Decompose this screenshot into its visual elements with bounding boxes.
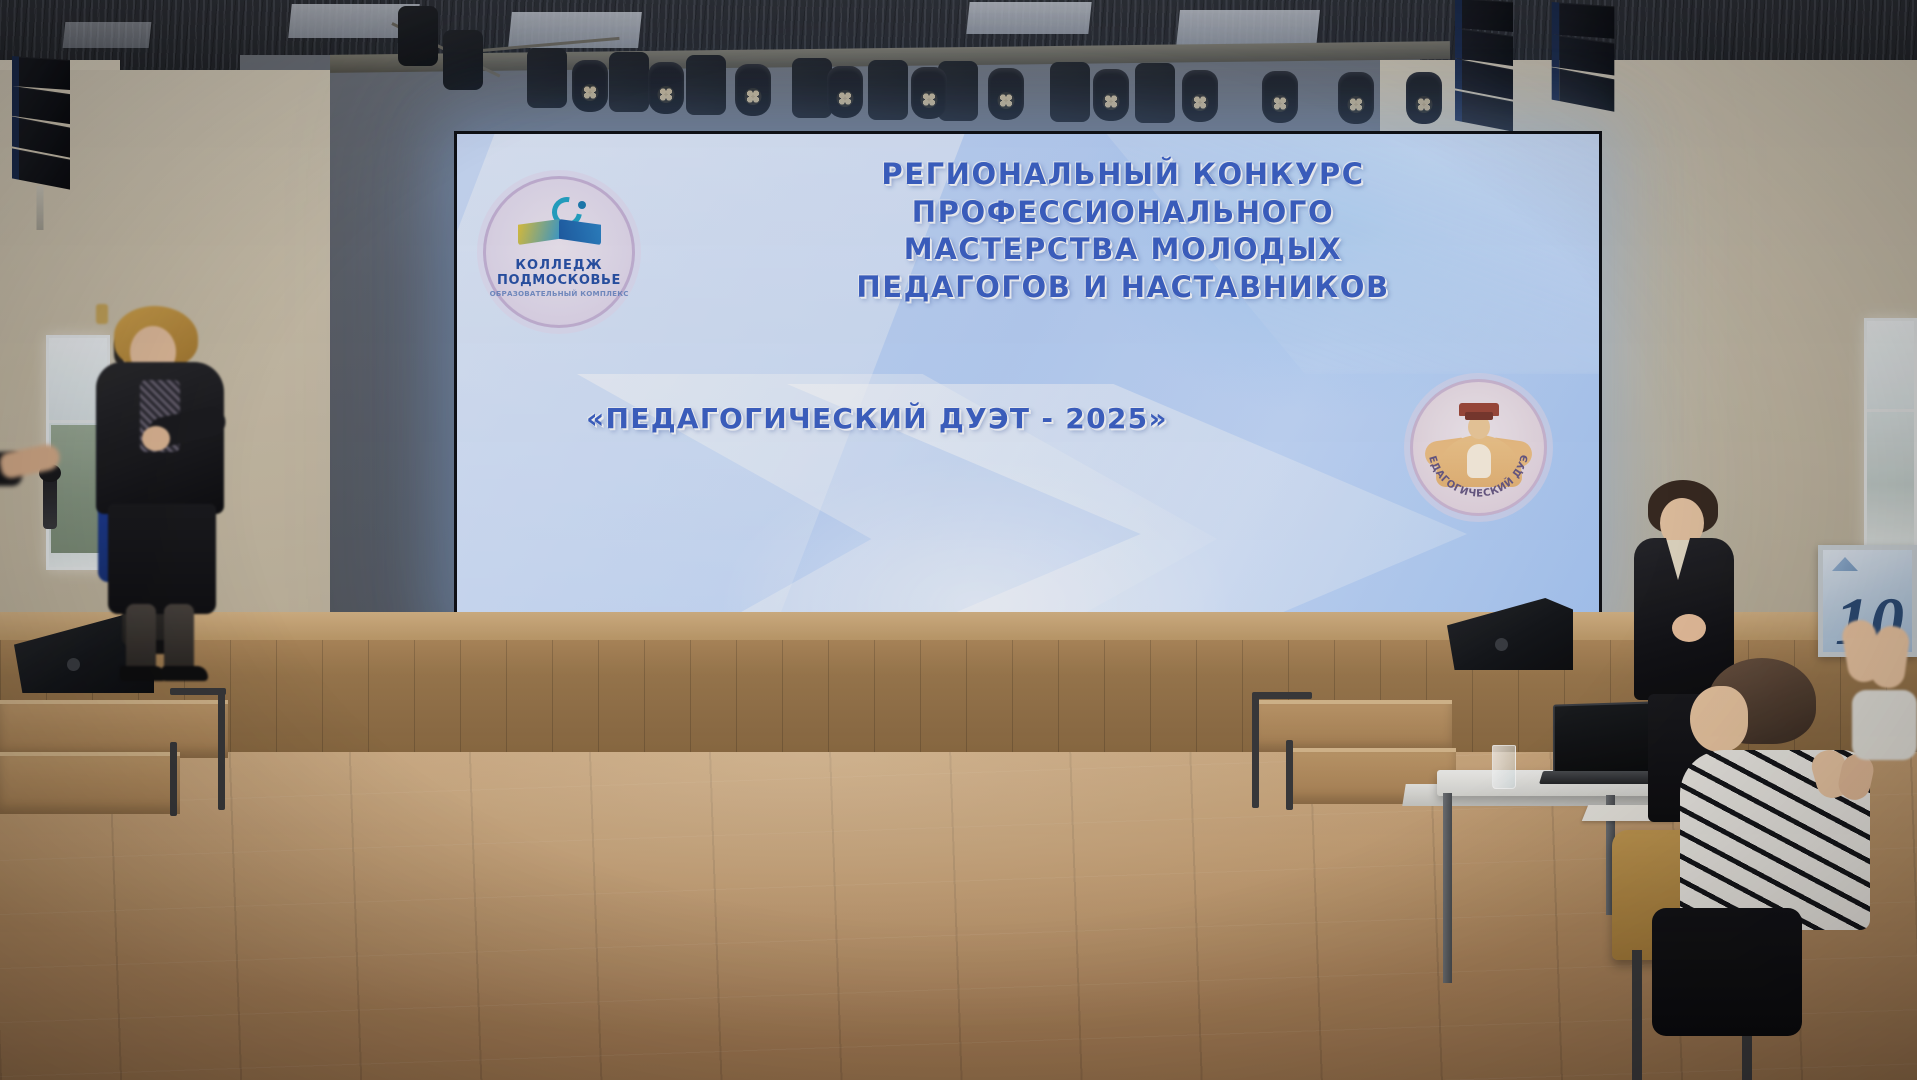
college-logo: КОЛЛЕДЖ ПОДМОСКОВЬЕ ОБРАЗОВАТЕЛЬНЫЙ КОМП… [483,176,635,328]
book-right-icon [559,219,601,245]
window-far-right [1864,318,1917,558]
step-handrail [218,690,225,810]
speaker-box [1455,0,1513,32]
par-lens [1272,95,1289,112]
step-handrail [1286,740,1293,810]
par-lens [1416,96,1433,113]
speaker-pole [37,186,44,230]
moving-head-light [398,6,438,66]
svg-text:ПЕДАГОГИЧЕСКИЙ ДУЭТ: ПЕДАГОГИЧЕСКИЙ ДУЭТ [1413,382,1531,500]
moving-head-light [1050,62,1090,122]
stage-step [1252,700,1452,752]
moving-head-light [527,48,567,108]
moving-head-light [868,60,908,120]
par-lens [658,86,675,103]
emblem-ring-text: ПЕДАГОГИЧЕСКИЙ ДУЭТ [1413,382,1544,513]
led-video-wall: КОЛЛЕДЖ ПОДМОСКОВЬЕ ОБРАЗОВАТЕЛЬНЫЙ КОМП… [454,131,1602,637]
college-logo-mark [516,199,602,251]
hand [142,426,170,451]
led-screen-surface: КОЛЛЕДЖ ПОДМОСКОВЬЕ ОБРАЗОВАТЕЛЬНЫЙ КОМП… [457,134,1599,634]
person-woman-black-suit [96,304,108,324]
moving-head-light [443,30,483,90]
clasped-hands [1672,614,1706,642]
par-lens [1348,96,1365,113]
moving-head-light [609,52,649,112]
lap-trousers [1652,908,1802,1036]
par-can-light [911,67,947,119]
photo-scene: КОЛЛЕДЖ ПОДМОСКОВЬЕ ОБРАЗОВАТЕЛЬНЫЙ КОМП… [0,0,1917,1080]
step-handrail [1252,692,1312,699]
moving-head-light [686,55,726,115]
college-logo-line3: ОБРАЗОВАТЕЛЬНЫЙ КОМПЛЕКС [489,290,628,298]
par-can-light [1338,72,1374,124]
screen-title-line-3: МАСТЕРСТВА МОЛОДЫХ [693,231,1553,269]
chair-leg [1632,950,1642,1080]
screen-bottom-glow [717,454,1237,634]
speaker-box [12,56,70,90]
par-can-light [648,62,684,114]
water-glass [1492,745,1516,789]
book-left-icon [518,219,560,245]
screen-subtitle: «ПЕДАГОГИЧЕСКИЙ ДУЭТ - 2025» [467,402,1287,435]
shoe [162,666,208,681]
stage-step [0,752,180,814]
par-can-light [988,68,1024,120]
line-array-far-right [1552,4,1615,108]
par-lens [1103,93,1120,110]
line-array-left [12,58,70,186]
dot-icon [578,201,586,209]
college-logo-line1: КОЛЛЕДЖ [515,258,602,273]
par-lens [582,84,599,101]
par-can-light [572,60,608,112]
ceiling-panel [966,2,1091,34]
laptop-screen[interactable] [1553,701,1662,777]
college-logo-line2: ПОДМОСКОВЬЕ [497,273,621,288]
par-can-light [1093,69,1129,121]
skirt [108,504,216,614]
line-array-right [1455,0,1513,128]
wristwatch [96,304,108,324]
screen-title-block: РЕГИОНАЛЬНЫЙ КОНКУРС ПРОФЕССИОНАЛЬНОГО М… [693,156,1553,307]
screen-title-line-4: ПЕДАГОГОВ И НАСТАВНИКОВ [693,269,1553,307]
leg [164,604,194,674]
duet-emblem: ПЕДАГОГИЧЕСКИЙ ДУЭТ [1410,379,1547,516]
window-mullion [1867,409,1914,412]
shoe [120,666,166,681]
par-lens [1192,94,1209,111]
step-handrail [170,742,177,816]
step-handrail [170,688,226,695]
par-lens [745,88,762,105]
offscreen-right-hands [1845,620,1917,740]
step-handrail [1252,694,1259,808]
head [1690,686,1748,752]
par-can-light [735,64,771,116]
screen-title-line-1: РЕГИОНАЛЬНЫЙ КОНКУРС [693,156,1553,194]
par-lens [837,90,854,107]
screen-title-line-2: ПРОФЕССИОНАЛЬНОГО [693,194,1553,232]
ceiling-panel [63,22,152,48]
speaker-box [1552,2,1615,39]
moving-head-light [792,58,832,118]
stage-step [0,700,228,758]
par-lens [998,92,1015,109]
par-can-light [1262,71,1298,123]
par-can-light [1182,70,1218,122]
table-leg [1443,793,1452,983]
par-can-light [1406,72,1442,124]
par-can-light [827,66,863,118]
moving-head-light [1135,63,1175,123]
sign-logo-icon [1832,557,1858,571]
leg [126,604,156,674]
par-lens [921,91,938,108]
emblem-ring-label: ПЕДАГОГИЧЕСКИЙ ДУЭТ [1413,382,1531,500]
